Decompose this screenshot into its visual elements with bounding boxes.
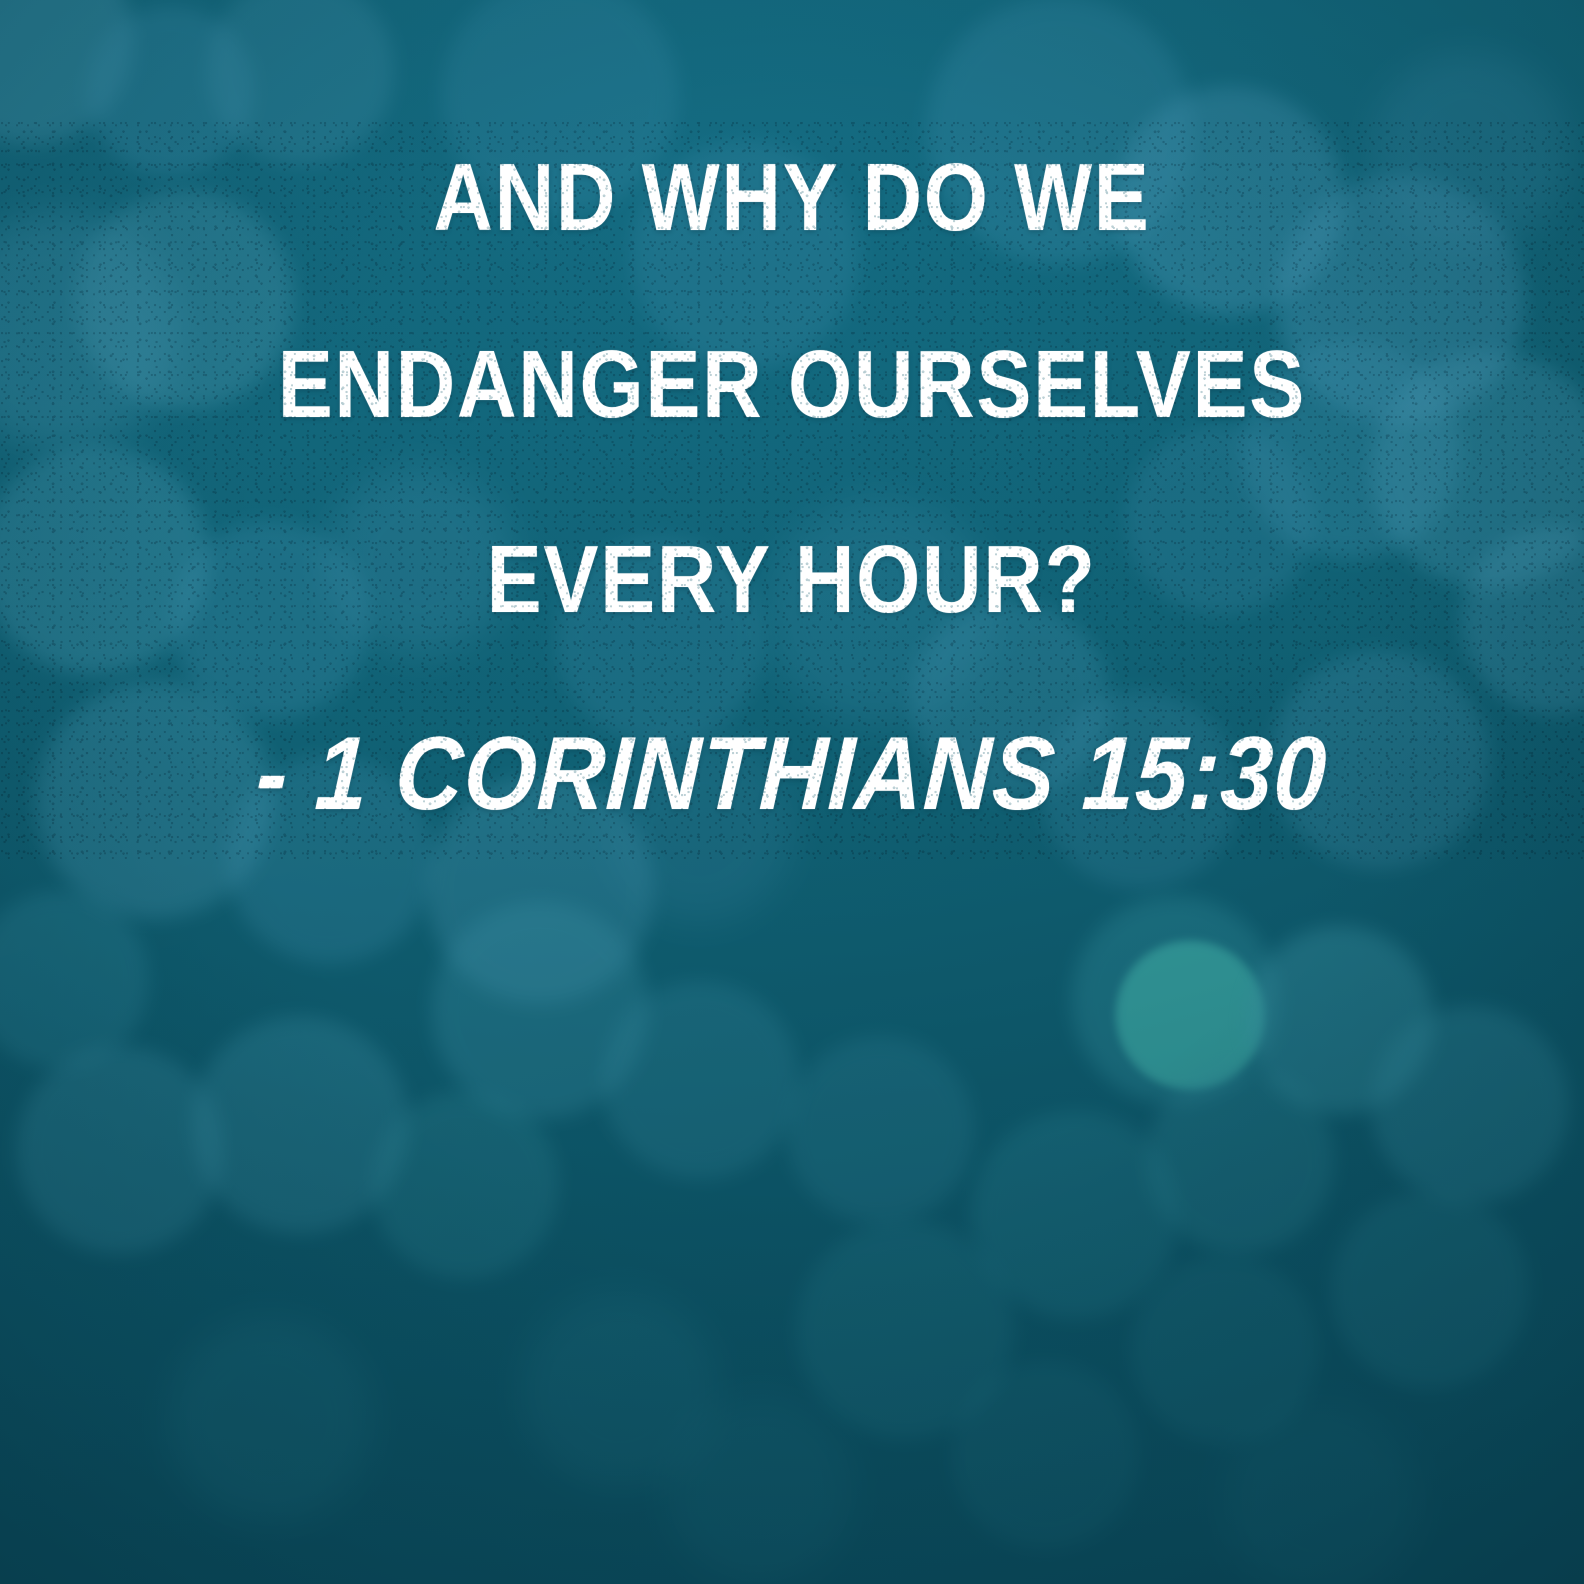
verse-line-3: EVERY HOUR? [0,532,1584,628]
verse-line-2: ENDANGER OURSELVES [0,337,1584,433]
verse-line-1-text: AND WHY DO WE [433,150,1150,246]
verse-line-1: AND WHY DO WE [0,150,1584,246]
verse-attribution-text: - 1 CORINTHIANS 15:30 [254,722,1329,826]
scripture-graphic: AND WHY DO WE ENDANGER OURSELVES EVERY H… [0,0,1584,1584]
verse-attribution: - 1 CORINTHIANS 15:30 [0,722,1584,826]
verse-line-2-text: ENDANGER OURSELVES [278,337,1306,433]
verse-line-3-text: EVERY HOUR? [487,532,1097,628]
